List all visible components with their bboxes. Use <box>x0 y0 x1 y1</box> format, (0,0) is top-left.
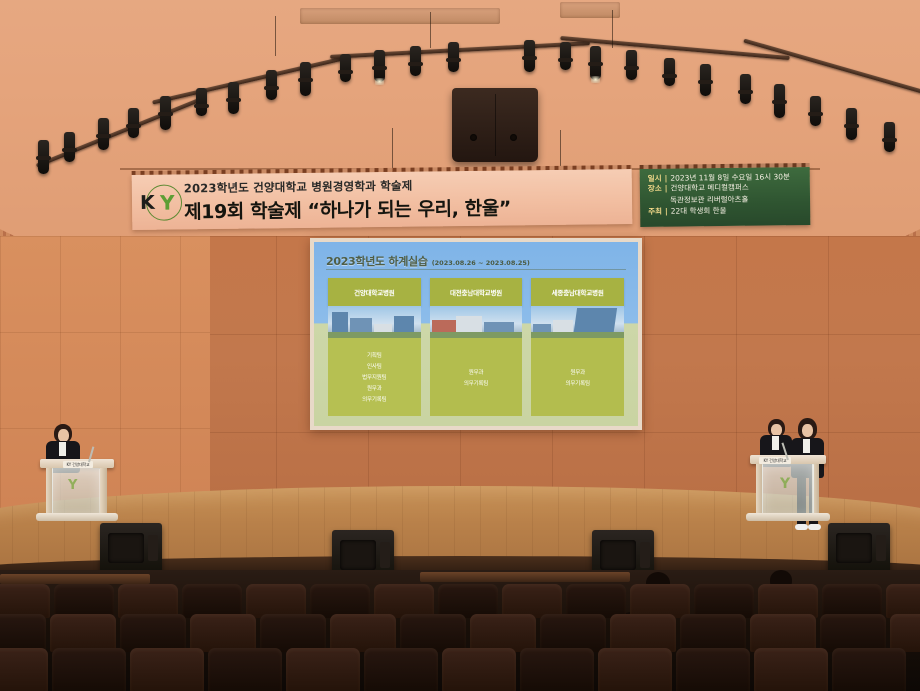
stage-light <box>196 88 207 116</box>
center-speaker-cluster <box>452 88 538 162</box>
stage-light <box>38 140 49 174</box>
stage-light <box>700 64 711 96</box>
stage-light <box>98 118 109 150</box>
stage-light <box>560 42 571 70</box>
info-row-location: 장소 | 건양대학교 메디컬캠퍼스 <box>648 183 804 194</box>
stage-light <box>810 96 821 126</box>
department-item: 법무지원팀 <box>362 373 386 381</box>
audience-seating <box>0 570 920 691</box>
stage-light <box>340 54 351 82</box>
department-item: 인사팀 <box>367 362 382 370</box>
stage-light <box>524 40 535 72</box>
slide-divider <box>326 269 626 270</box>
stage-light <box>160 96 171 130</box>
stage-light <box>774 84 785 118</box>
stage-monitor <box>100 523 162 575</box>
department-item: 의무기록팀 <box>464 379 488 387</box>
stage-light <box>884 122 895 152</box>
slide-date-range: (2023.08.26 ~ 2023.08.25) <box>432 259 530 267</box>
hospital-photo <box>531 306 624 338</box>
stage-light <box>626 50 637 80</box>
stage-light <box>64 132 75 162</box>
info-label: 주최 <box>648 208 662 217</box>
stage-light <box>300 62 311 96</box>
stage-light <box>266 70 277 100</box>
podium-logo: Y <box>68 478 77 493</box>
banner-tape <box>640 163 810 169</box>
slide-column: 세종충남대학교병원 원무과 의무기록팀 <box>531 278 624 416</box>
info-value: 22대 학생회 한울 <box>671 207 727 216</box>
info-value: 2023년 11월 8일 수요일 16시 30분 <box>670 173 790 183</box>
slide-column: 대전충남대학교병원 원무과 의무기록팀 <box>430 278 523 416</box>
department-list: 기획팀 인사팀 법무지원팀 원무과 의무기록팀 <box>328 338 421 416</box>
banner-title: 제19회 학술제 “하나가 되는 우리, 한울” <box>184 191 632 223</box>
hospital-label: 대전충남대학교병원 <box>430 278 523 306</box>
projection-screen: 2023학년도 하계실습 (2023.08.26 ~ 2023.08.25) 건… <box>310 238 642 430</box>
info-label: 장소 <box>648 185 662 194</box>
slide-column: 건양대학교병원 기획팀 인사팀 법무지원팀 원무과 의무기록팀 <box>328 278 421 416</box>
ky-university-logo: K Y <box>138 182 182 223</box>
hospital-label: 세종충남대학교병원 <box>531 278 624 306</box>
logo-letter-y: Y <box>160 190 175 214</box>
stage-light <box>128 108 139 138</box>
department-item: 기획팀 <box>367 351 382 359</box>
stage-monitor <box>828 523 890 575</box>
info-row-host: 주최 | 22대 학생회 한울 <box>648 206 804 217</box>
info-label: 일시 <box>648 175 662 184</box>
department-item: 원무과 <box>469 368 484 376</box>
department-list: 원무과 의무기록팀 <box>531 338 624 416</box>
department-item: 원무과 <box>570 368 585 376</box>
department-item: 의무기록팀 <box>566 379 590 387</box>
slide: 2023학년도 하계실습 (2023.08.26 ~ 2023.08.25) 건… <box>314 242 638 426</box>
stage-light <box>410 46 421 76</box>
hospital-photo <box>430 306 523 338</box>
stage-light <box>846 108 857 140</box>
department-item: 원무과 <box>367 384 382 392</box>
stage-light <box>740 74 751 104</box>
hospital-label: 건양대학교병원 <box>328 278 421 306</box>
stage-light <box>590 46 601 80</box>
auditorium-photo: K Y 2023학년도 건양대학교 병원경영학과 학술제 제19회 학술제 “하… <box>0 0 920 691</box>
department-list: 원무과 의무기록팀 <box>430 338 523 416</box>
department-item: 의무기록팀 <box>362 395 386 403</box>
event-info-banner: 일시 | 2023년 11월 8일 수요일 16시 30분 장소 | 건양대학교… <box>640 167 811 227</box>
slide-title: 2023학년도 하계실습 <box>326 253 428 269</box>
stage-light <box>664 58 675 86</box>
main-banner: K Y 2023학년도 건양대학교 병원경영학과 학술제 제19회 학술제 “하… <box>132 169 633 230</box>
info-value: 건양대학교 메디컬캠퍼스 <box>670 184 748 194</box>
stage-light <box>448 42 459 72</box>
hospital-photo <box>328 306 421 338</box>
stage-light <box>228 82 239 114</box>
logo-letter-k: K <box>140 191 154 213</box>
stage-light <box>374 50 385 82</box>
info-value-location-2: 독관정보관 리버럴아츠홀 <box>648 193 804 206</box>
podium-logo: Y <box>780 476 790 492</box>
